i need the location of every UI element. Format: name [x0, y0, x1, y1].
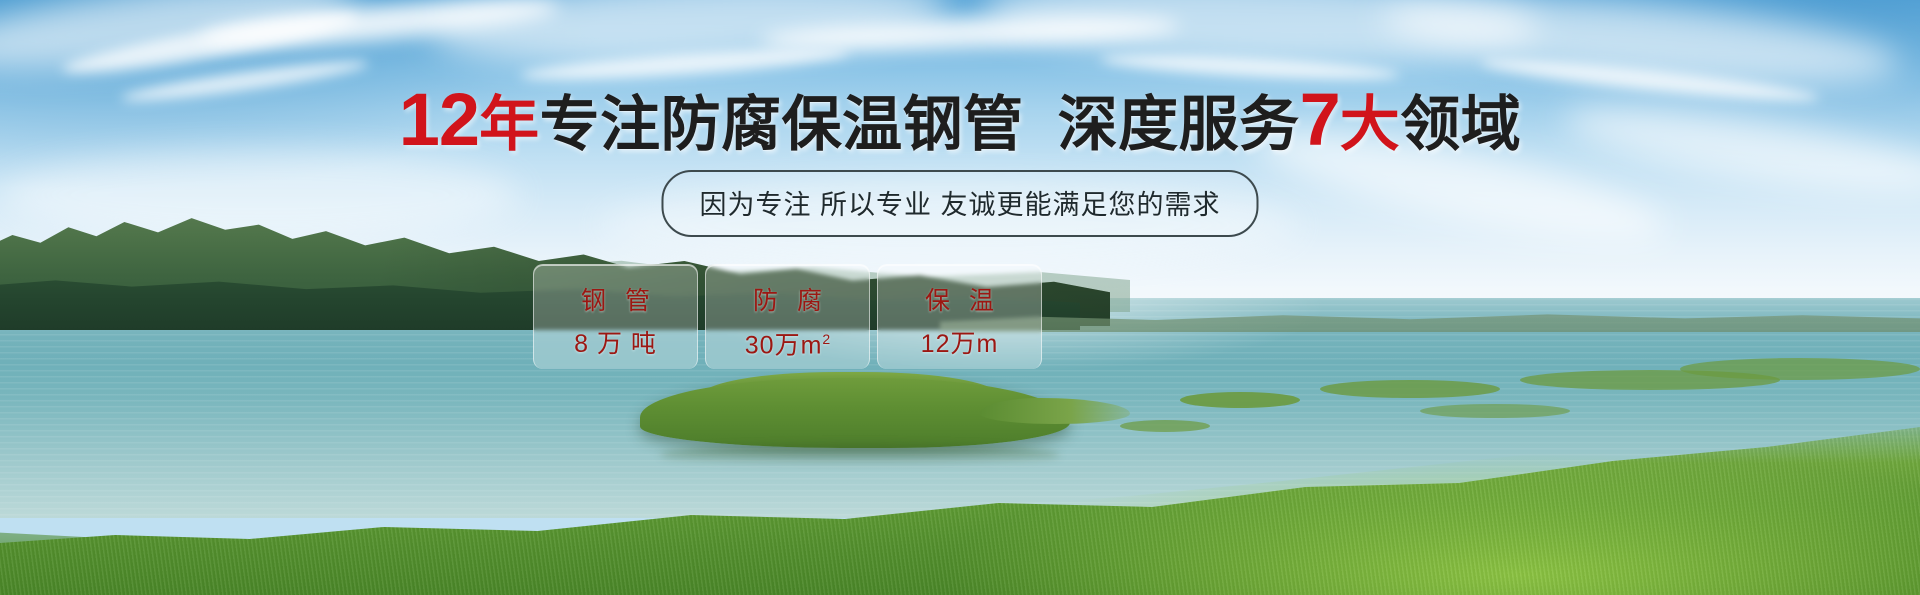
- banner-subtitle-pill: 因为专注 所以专业 友诚更能满足您的需求: [661, 170, 1258, 237]
- stat-value-main: 30万m: [745, 331, 823, 359]
- stat-card-value: 30万m2: [745, 332, 830, 358]
- stat-card-anticorrosion: 防 腐 30万m2: [705, 264, 870, 369]
- stat-card-label: 防 腐: [747, 289, 828, 314]
- stat-card-label: 保 温: [919, 289, 1000, 314]
- banner-content: 12年专注防腐保温钢管深度服务7大领域 因为专注 所以专业 友诚更能满足您的需求…: [0, 0, 1920, 595]
- banner-headline: 12年专注防腐保温钢管深度服务7大领域: [0, 83, 1920, 157]
- headline-service-text: 深度服务: [1058, 91, 1300, 158]
- stat-value-main: 8 万 吨: [574, 330, 657, 358]
- headline-fields-text: 领域: [1400, 91, 1521, 158]
- stat-card-value: 12万m: [921, 332, 999, 357]
- stat-card-group: 钢 管 8 万 吨 防 腐 30万m2 保 温 12万m: [533, 264, 1042, 369]
- stat-card-insulation: 保 温 12万m: [877, 264, 1042, 369]
- stat-card-value: 8 万 吨: [574, 332, 657, 357]
- headline-focus-text: 专注防腐保温钢管: [540, 91, 1024, 158]
- stat-value-superscript: 2: [822, 331, 830, 347]
- headline-fields-number: 7: [1300, 78, 1340, 161]
- headline-years-number: 12: [399, 78, 479, 161]
- stat-card-label: 钢 管: [575, 289, 656, 314]
- stat-card-steel-pipe: 钢 管 8 万 吨: [533, 264, 698, 369]
- hero-banner: 12年专注防腐保温钢管深度服务7大领域 因为专注 所以专业 友诚更能满足您的需求…: [0, 0, 1920, 595]
- stat-value-main: 12万m: [921, 330, 999, 358]
- headline-years-unit: 年: [479, 91, 540, 158]
- headline-fields-unit: 大: [1340, 91, 1401, 158]
